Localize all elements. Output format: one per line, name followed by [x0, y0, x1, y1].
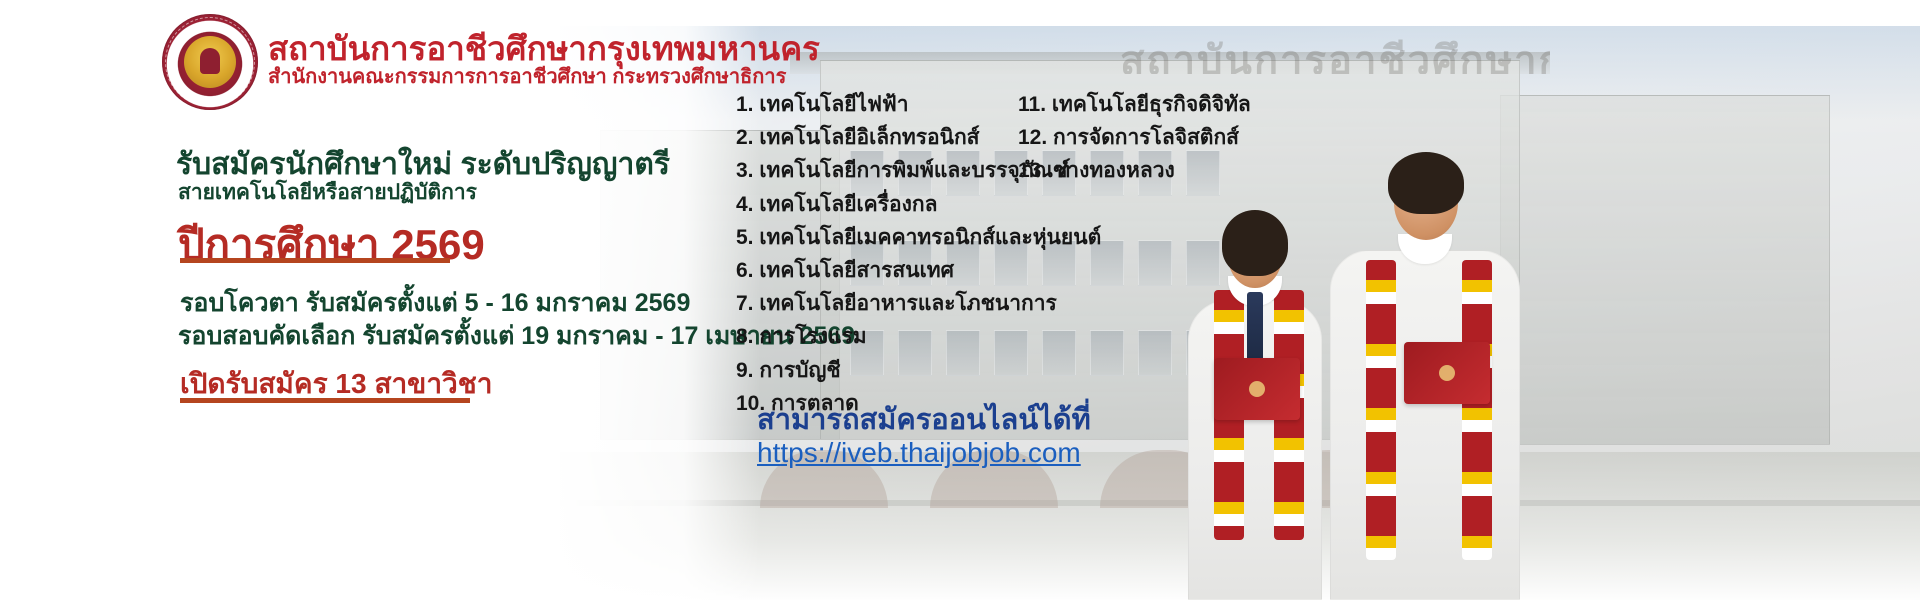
announcement-subline: สายเทคโนโลยีหรือสายปฏิบัติการ — [178, 176, 477, 209]
academic-year-label: ปีการศึกษา 2569 — [178, 212, 485, 278]
building-right-wing — [1500, 95, 1830, 445]
major-item: 12. การจัดการโลจิสติกส์ — [1018, 121, 1251, 154]
majors-column-right: 11. เทคโนโลยีธุรกิจดิจิทัล 12. การจัดการ… — [1018, 88, 1251, 188]
major-item: 11. เทคโนโลยีธุรกิจดิจิทัล — [1018, 88, 1251, 121]
major-item: 7. เทคโนโลยีอาหารและโภชนาการ — [736, 287, 1101, 320]
major-item: 6. เทคโนโลยีสารสนเทศ — [736, 254, 1101, 287]
institute-seal-logo — [162, 14, 258, 110]
major-item: 4. เทคโนโลยีเครื่องกล — [736, 188, 1101, 221]
majors-open-underline — [180, 398, 470, 403]
diploma-folder — [1214, 358, 1300, 420]
building-signage-text: สถาบันการอาชีวศึกษากรุงเทพมหานคร — [1120, 28, 1550, 74]
major-item: 9. การบัญชี — [736, 354, 1101, 387]
apply-online-label: สามารถสมัครออนไลน์ได้ที่ — [757, 396, 1091, 442]
seal-figure — [200, 48, 220, 74]
major-item: 13. ช่างทองหลวง — [1018, 154, 1251, 187]
seal-inner-disc — [184, 36, 236, 88]
graduate-male — [1320, 130, 1530, 600]
academic-year-underline — [180, 258, 450, 263]
organization-subtitle: สำนักงานคณะกรรมการการอาชีวศึกษา กระทรวงศ… — [268, 60, 786, 92]
apply-url-link[interactable]: https://iveb.thaijobjob.com — [757, 437, 1081, 469]
major-item: 5. เทคโนโลยีเมคคาทรอนิกส์และหุ่นยนต์ — [736, 221, 1101, 254]
major-item: 8. การโรงแรม — [736, 320, 1101, 353]
admission-banner: สถาบันการอาชีวศึกษากรุงเทพมหานคร — [0, 0, 1920, 600]
diploma-folder — [1404, 342, 1490, 404]
graduate-female — [1170, 180, 1340, 600]
